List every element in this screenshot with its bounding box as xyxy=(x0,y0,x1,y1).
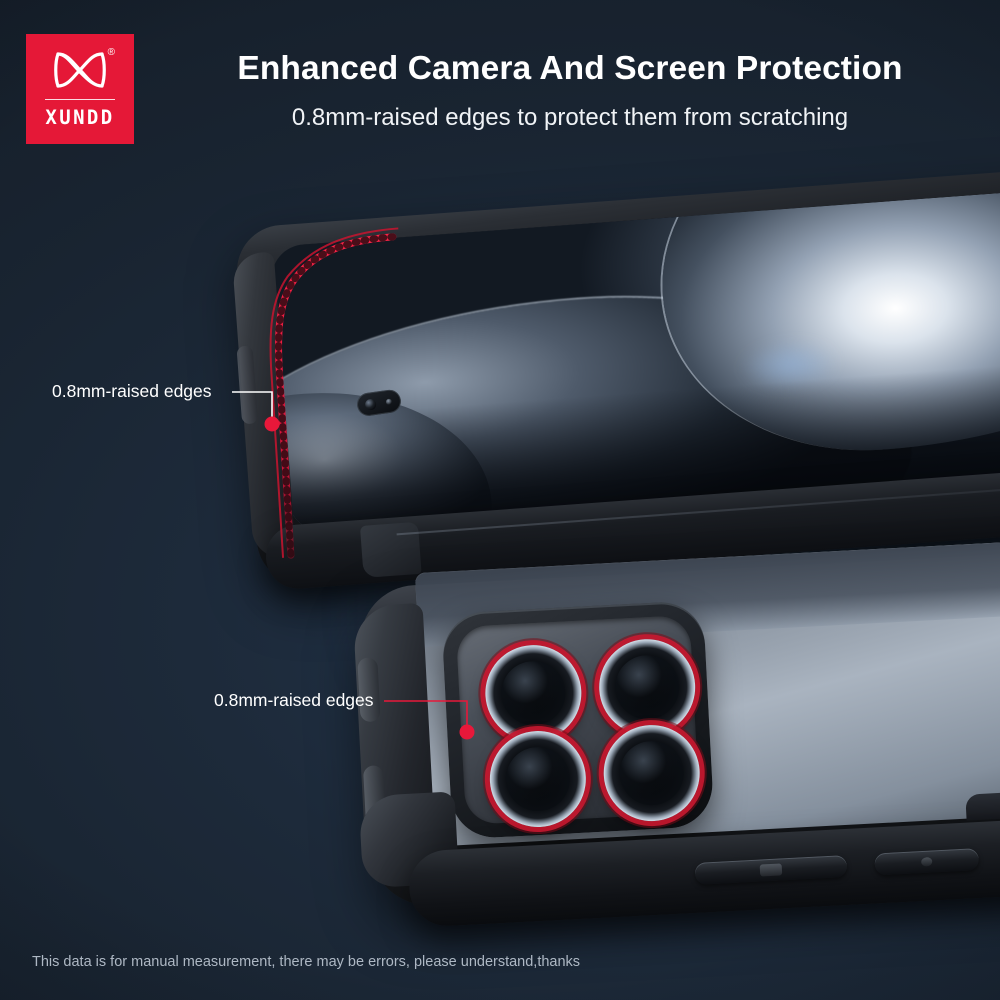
camera-lens-bottom-left xyxy=(487,729,588,830)
back-panel-notch xyxy=(965,788,1000,820)
lens-glint-icon xyxy=(523,689,544,701)
led-flash-top-right xyxy=(597,637,698,738)
phone-front-view xyxy=(234,164,1000,587)
lens-glint-icon xyxy=(642,769,663,781)
power-button[interactable] xyxy=(874,848,979,875)
xundd-butterfly-mark-icon: ® xyxy=(49,50,111,90)
brand-name: XUNDD xyxy=(45,106,114,129)
page-title: Enhanced Camera And Screen Protection xyxy=(170,50,970,88)
camera-lens-bottom-right xyxy=(601,723,702,824)
volume-rocker-button[interactable] xyxy=(694,855,847,885)
lens-glint-icon xyxy=(528,775,549,787)
brand-logo: ® XUNDD xyxy=(26,34,134,144)
phone-back-view xyxy=(358,552,1000,908)
flash-icon xyxy=(634,674,661,701)
disclaimer-text: This data is for manual measurement, the… xyxy=(32,954,580,970)
registered-trademark-icon: ® xyxy=(108,48,115,58)
logo-divider xyxy=(45,99,115,100)
camera-module-inner xyxy=(456,615,700,825)
page-subtitle: 0.8mm-raised edges to protect them from … xyxy=(170,104,970,132)
case-grip-notch xyxy=(357,657,380,722)
camera-lens-top-left xyxy=(483,643,584,744)
raised-edge-highlight-screen xyxy=(240,216,426,587)
product-feature-poster: 0.8mm-raised edges 0.8mm-raised edges ® … xyxy=(0,0,1000,1000)
camera-module xyxy=(441,600,714,839)
